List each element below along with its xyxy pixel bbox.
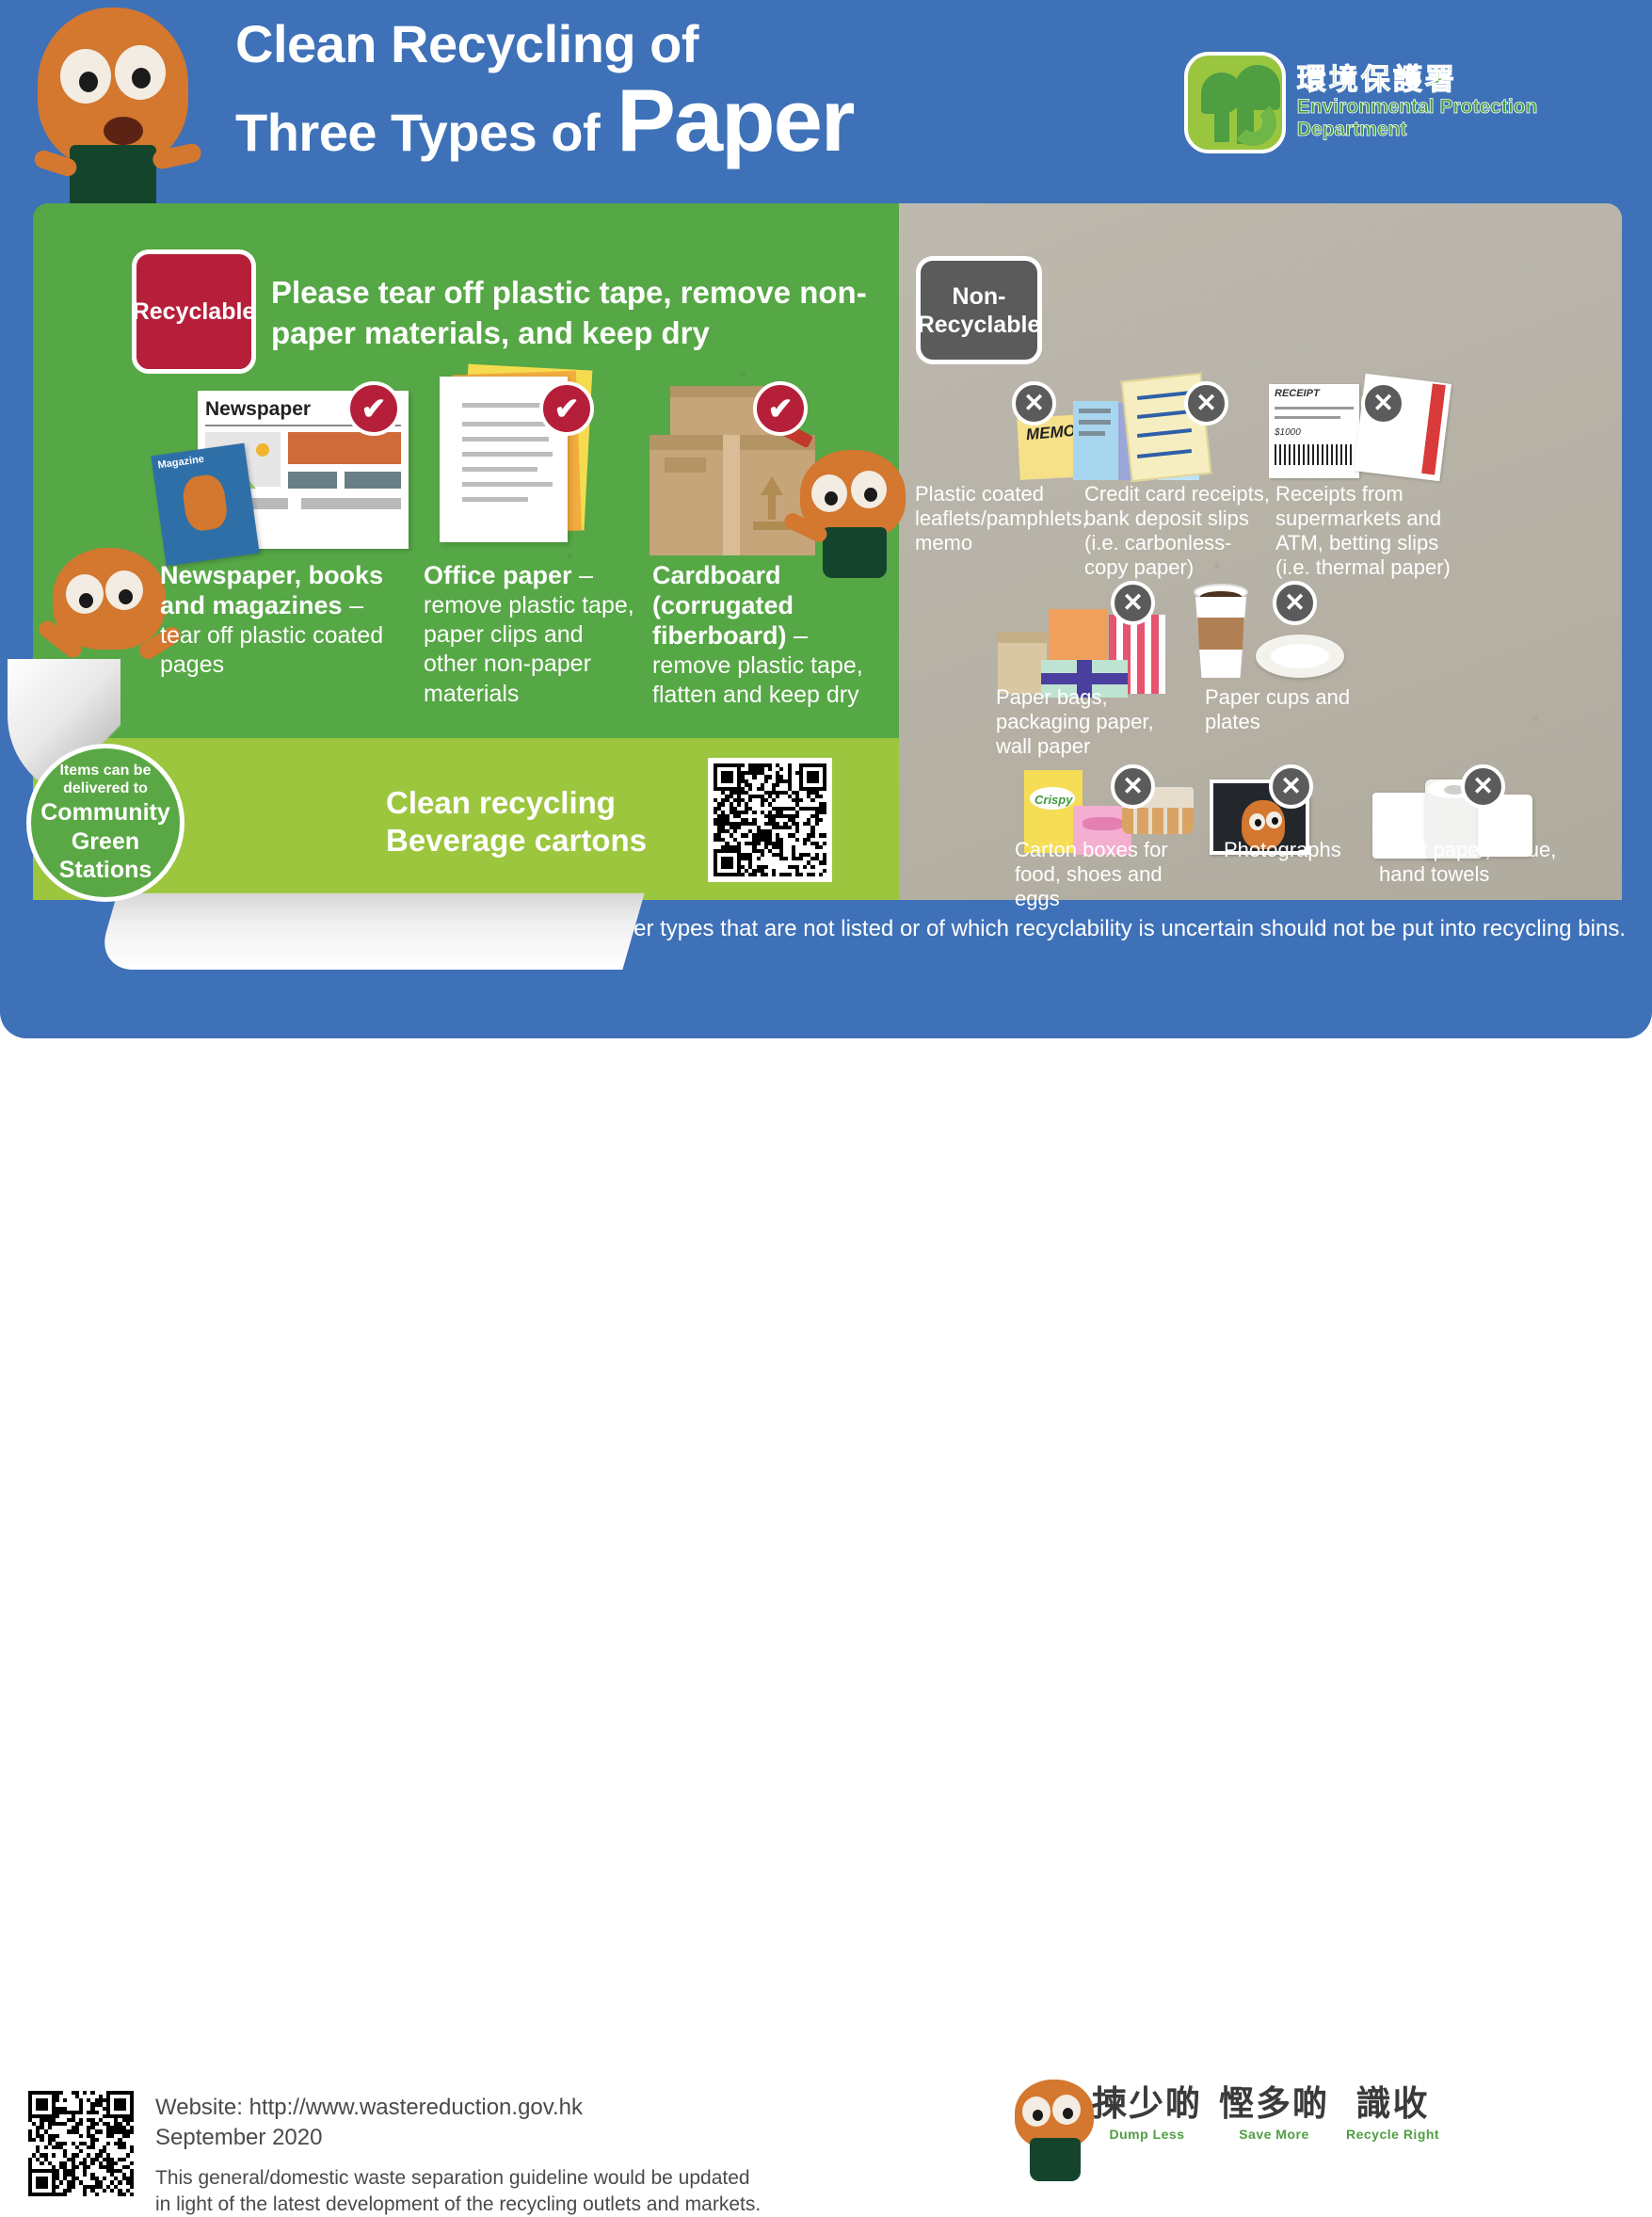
paper-bags-icon [998, 607, 1186, 694]
non-recyclable-caption-5: Paper cups and plates [1205, 685, 1355, 734]
epd-name-zh: 環境保護署 [1297, 64, 1652, 96]
footer-text: Website: http://www.wastereduction.gov.h… [155, 2093, 795, 2217]
x-mark-paper-bags: ✕ [1111, 581, 1155, 625]
poster-card: Clean Recycling of Three Types of Paper … [0, 0, 1652, 1038]
non-recyclable-caption-4: Paper bags, packaging paper, wall paper [996, 685, 1184, 759]
qr-code-beverage[interactable] [708, 758, 832, 882]
title-line-2-big: Paper [617, 78, 853, 162]
slogan-en: Dump Less [1092, 2127, 1202, 2142]
slogan-recycle-right: 識收 Recycle Right [1346, 2086, 1439, 2142]
check-mark-office-paper: ✔ [539, 381, 594, 436]
non-recyclable-caption-8: Toilet paper, tissue, hand towels [1379, 838, 1563, 887]
recyclable-item-desc: remove plastic tape, flatten and keep dr… [652, 651, 878, 711]
mascot-header [21, 4, 200, 220]
cgs-small-line-2: delivered to [63, 779, 148, 797]
title-line-1: Clean Recycling of [235, 17, 1064, 72]
check-glyph: ✔ [554, 391, 580, 426]
receipt-label: RECEIPT [1275, 388, 1320, 399]
header: Clean Recycling of Three Types of Paper … [0, 0, 1652, 226]
x-mark-credit-card-receipts: ✕ [1184, 381, 1228, 426]
recyclable-item-title: Office paper – [424, 561, 642, 591]
recyclable-item-title: Cardboard (corrugated fiberboard) – [652, 561, 878, 651]
x-glyph: ✕ [1122, 772, 1144, 801]
x-glyph: ✕ [1372, 389, 1394, 418]
recyclable-item-office-paper: Office paper – remove plastic tape, pape… [424, 561, 642, 709]
recyclable-item-title: Newspaper, books and magazines – [160, 561, 407, 621]
community-green-stations-badge: Items can be delivered to Community Gree… [26, 744, 184, 902]
x-glyph: ✕ [1023, 389, 1045, 418]
recyclable-badge-label: Recyclable [133, 298, 256, 326]
footer: Website: http://www.wastereduction.gov.h… [0, 1038, 1652, 1168]
cgs-small-line-1: Items can be [60, 762, 152, 779]
non-recyclable-caption-1: Plastic coated leaflets/pamphlets, memo [915, 482, 1083, 555]
footer-note-line-1: This general/domestic waste separation g… [155, 2165, 795, 2191]
slogan-zh: 揀少啲 [1092, 2086, 1202, 2121]
x-glyph: ✕ [1472, 772, 1494, 801]
recyclable-item-desc: remove plastic tape, paper clips and oth… [424, 591, 642, 709]
x-glyph: ✕ [1122, 588, 1144, 618]
x-glyph: ✕ [1195, 389, 1217, 418]
x-mark-photographs: ✕ [1269, 764, 1313, 809]
mascot-footer [1007, 2080, 1101, 2183]
x-mark-carton-boxes: ✕ [1111, 764, 1155, 809]
x-mark-plastic-leaflets: ✕ [1012, 381, 1056, 426]
slogan-group: 揀少啲 Dump Less 慳多啲 Save More 識收 Recycle R… [1092, 2086, 1439, 2142]
epd-name-en: Environmental Protection Department [1297, 96, 1652, 141]
slogan-save-more: 慳多啲 Save More [1219, 2086, 1329, 2142]
slogan-zh: 慳多啲 [1219, 2086, 1329, 2121]
epd-mark-icon [1184, 52, 1286, 153]
page-curl-decoration-bottom [95, 847, 657, 970]
footer-website[interactable]: Website: http://www.wastereduction.gov.h… [155, 2093, 795, 2123]
recyclable-item-desc: tear off plastic coated pages [160, 621, 407, 681]
non-recyclable-caption-2: Credit card receipts, bank deposit slips… [1084, 482, 1273, 580]
thermal-receipt-icon: RECEIPT $1000 BANK [1269, 378, 1448, 480]
non-recyclable-caption-7: Photographs [1224, 838, 1393, 862]
slogan-en: Recycle Right [1346, 2127, 1439, 2142]
slogan-dump-less: 揀少啲 Dump Less [1092, 2086, 1202, 2142]
epd-logo: 環境保護署 Environmental Protection Departmen… [1184, 52, 1652, 153]
recyclable-headline: Please tear off plastic tape, remove non… [271, 273, 874, 354]
carton-brand-label: Crispy [1035, 793, 1072, 807]
title-line-2-small: Three Types of [235, 102, 600, 163]
check-mark-cardboard: ✔ [753, 381, 808, 436]
footer-date: September 2020 [155, 2123, 795, 2153]
x-glyph: ✕ [1284, 588, 1306, 618]
office-paper-icon [428, 367, 626, 555]
slogan-en: Save More [1219, 2127, 1329, 2142]
cgs-big-line-3: Stations [59, 858, 152, 884]
non-recyclable-badge-line-2: Recyclable [918, 311, 1041, 339]
x-mark-thermal-receipts: ✕ [1361, 381, 1405, 426]
non-recyclable-caption-6: Carton boxes for food, shoes and eggs [1015, 838, 1194, 911]
x-mark-toilet-paper: ✕ [1461, 764, 1505, 809]
recyclable-item-newspaper: Newspaper, books and magazines – tear of… [160, 561, 407, 680]
slogan-zh: 識收 [1346, 2086, 1439, 2121]
check-glyph: ✔ [361, 391, 387, 426]
check-glyph: ✔ [768, 391, 794, 426]
receipt-amount: $1000 [1275, 427, 1301, 438]
page-title: Clean Recycling of Three Types of Paper [235, 17, 1064, 163]
x-glyph: ✕ [1280, 772, 1302, 801]
non-recyclable-caption-3: Receipts from supermarkets and ATM, bett… [1275, 482, 1468, 580]
qr-code-website[interactable] [28, 2091, 134, 2196]
non-recyclable-badge-line-1: Non- [918, 282, 1041, 311]
status-badge-non-recyclable: Non- Recyclable [916, 256, 1042, 364]
paper-cup-plate-icon [1194, 584, 1344, 687]
footer-note-line-2: in light of the latest development of th… [155, 2192, 795, 2217]
status-badge-recyclable: Recyclable [132, 249, 256, 374]
check-mark-newspaper: ✔ [346, 381, 401, 436]
disclaimer-text: Waste paper types that are not listed or… [526, 916, 1626, 942]
x-mark-paper-cups: ✕ [1273, 581, 1317, 625]
cgs-big-line-1: Community [40, 800, 170, 827]
recyclable-item-cardboard: Cardboard (corrugated fiberboard) – remo… [652, 561, 878, 710]
cgs-big-line-2: Green [72, 829, 139, 856]
